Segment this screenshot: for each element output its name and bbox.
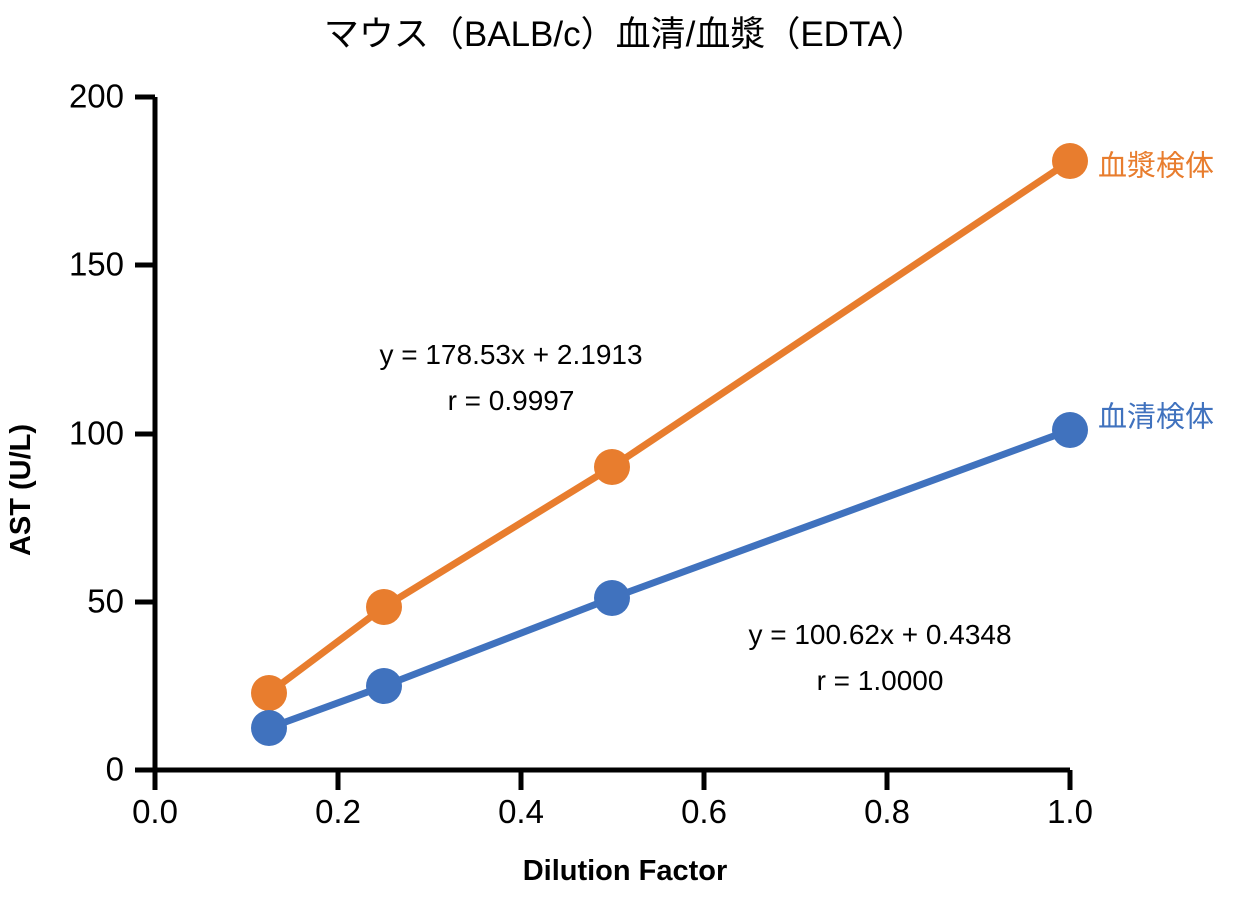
- plasma-fit-correlation: r = 0.9997: [448, 385, 575, 416]
- x-tick-label-0.8: 0.8: [864, 793, 910, 830]
- x-tick-label-1.0: 1.0: [1047, 793, 1093, 830]
- data-point-plasma-4[interactable]: [1052, 143, 1088, 179]
- legend-label-serum[interactable]: 血清検体: [1098, 401, 1214, 434]
- y-tick-label-50: 50: [87, 583, 124, 620]
- y-tick-label-200: 200: [69, 78, 124, 115]
- y-axis-title: AST (U/L): [5, 424, 37, 556]
- plasma-fit-equation: y = 178.53x + 2.1913: [379, 339, 642, 370]
- y-tick-label-150: 150: [69, 246, 124, 283]
- data-point-plasma-2[interactable]: [366, 589, 402, 625]
- x-tick-label-0.6: 0.6: [681, 793, 727, 830]
- serum-fit-annotation: y = 100.62x + 0.4348 r = 1.0000: [748, 619, 1011, 696]
- plot-area: 200 150 100 50 0 0.0 0.2 0.4 0.6 0.8 1.0…: [0, 0, 1250, 900]
- serum-fit-equation: y = 100.62x + 0.4348: [748, 619, 1011, 650]
- data-point-serum-2[interactable]: [366, 668, 402, 704]
- chart-container: マウス（BALB/c）血清/血漿（EDTA） 200 150 100 50 0 …: [0, 0, 1250, 900]
- x-tick-label-0.4: 0.4: [498, 793, 544, 830]
- x-axis: [155, 770, 1070, 790]
- y-tick-label-0: 0: [106, 751, 124, 788]
- data-point-serum-4[interactable]: [1052, 412, 1088, 448]
- data-point-serum-3[interactable]: [594, 580, 630, 616]
- data-point-serum-1[interactable]: [251, 710, 287, 746]
- x-tick-label-0.0: 0.0: [132, 793, 178, 830]
- y-axis: [135, 97, 155, 770]
- series-serum: [251, 412, 1088, 746]
- legend-label-plasma[interactable]: 血漿検体: [1098, 150, 1214, 183]
- data-point-plasma-1[interactable]: [251, 675, 287, 711]
- x-tick-label-0.2: 0.2: [315, 793, 361, 830]
- plasma-fit-annotation: y = 178.53x + 2.1913 r = 0.9997: [379, 339, 642, 416]
- data-point-plasma-3[interactable]: [594, 449, 630, 485]
- x-axis-title: Dilution Factor: [523, 855, 728, 887]
- y-tick-label-100: 100: [69, 415, 124, 452]
- serum-fit-correlation: r = 1.0000: [817, 665, 944, 696]
